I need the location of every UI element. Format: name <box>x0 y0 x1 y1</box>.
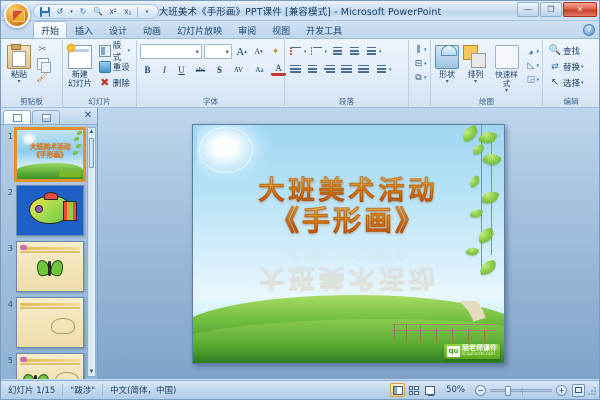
close-button[interactable]: ✕ <box>563 2 597 17</box>
watermark-badge: qu 屈老师课件 kj.qulaoshi.com <box>444 344 500 359</box>
butterfly-outline-icon <box>51 318 75 334</box>
zoom-out-button[interactable]: − <box>475 385 486 396</box>
font-row-2: B I U abc S AV Aa A <box>140 61 286 78</box>
slide-thumbnail-pane: ✕ 1 大班美术活动 《手形画》 <box>1 108 98 379</box>
fish-icon <box>29 196 69 224</box>
font-row-1: ▾ ▾ A▴ A▾ ✦ <box>140 43 283 60</box>
mini-watermark <box>59 171 81 177</box>
slide-thumbnail-3[interactable] <box>16 241 84 292</box>
zoom-slider[interactable] <box>490 389 552 392</box>
shape-fill-row: ◕ ▾ <box>525 45 540 58</box>
font-group-label: 字体 <box>140 96 281 107</box>
slide-title-block[interactable]: 大班美术活动 《手形画》 大班美术活动 《手形画》 <box>193 177 504 292</box>
leaf-icon <box>473 144 485 154</box>
fit-to-window-button[interactable] <box>572 384 585 397</box>
justify-button[interactable] <box>339 62 354 77</box>
align-center-icon <box>307 65 318 74</box>
increase-indent-icon <box>348 47 359 56</box>
tab-slides-thumbnails[interactable] <box>3 110 31 124</box>
watermark-url: kj.qulaoshi.com <box>462 351 497 357</box>
leaf-icon <box>482 149 503 169</box>
slide-thumbnail-4[interactable] <box>16 297 84 348</box>
shape-effects-row: ◲ ▾ <box>525 73 540 86</box>
text-direction-row: ⫼ ▾ <box>412 43 427 56</box>
distributed-icon <box>358 65 369 74</box>
decrease-indent-icon <box>331 47 342 56</box>
layout-icon <box>99 45 111 57</box>
watermark-text: 屈老师课件 kj.qulaoshi.com <box>462 345 497 357</box>
slides-tab-icon <box>13 114 22 122</box>
grow-font-button[interactable]: A▴ <box>234 44 249 59</box>
scrollbar-thumb[interactable] <box>89 138 94 168</box>
text-direction-caret-icon[interactable]: ▾ <box>424 47 427 53</box>
zoom-tick <box>522 388 523 395</box>
help-icon[interactable]: ? <box>583 24 595 36</box>
increase-indent-button[interactable] <box>346 44 361 59</box>
cursor-icon: ↖ <box>549 77 561 89</box>
close-pane-icon[interactable]: ✕ <box>82 110 94 122</box>
list-item[interactable]: 5 <box>4 353 86 379</box>
tab-animations[interactable]: 动画 <box>135 21 169 38</box>
view-normal-button[interactable] <box>390 383 405 397</box>
slide-title-line1: 大班美术活动 <box>193 177 504 206</box>
clipboard-small-buttons: ✂ 🖌 <box>36 43 49 84</box>
smartart-row: ⧉ ▾ <box>412 71 427 84</box>
quick-styles-label: 快速样式 <box>492 70 522 88</box>
fit-window-icon <box>575 387 582 393</box>
delete-icon: ✖ <box>99 77 111 89</box>
bullets-caret-icon[interactable]: ▾ <box>304 49 307 55</box>
shape-effects-caret-icon[interactable]: ▾ <box>537 77 540 83</box>
distributed-button[interactable] <box>356 62 371 77</box>
ribbon: 粘贴 ▾ ✂ 🖌 剪贴板 新建 幻灯片 <box>1 39 599 108</box>
shapes-button[interactable]: 形状 ▾ <box>434 43 460 86</box>
replace-label: 替换 <box>563 61 580 73</box>
list-item[interactable]: 2 <box>4 185 86 236</box>
bullets-button[interactable] <box>288 44 303 59</box>
strikethrough-button[interactable]: abc <box>191 62 210 77</box>
reset-label: 重设 <box>113 61 130 73</box>
slide-number: 1 <box>4 129 13 141</box>
delete-label: 删除 <box>113 77 130 89</box>
mini-title: 大班美术活动 《手形画》 <box>17 143 83 159</box>
mini-title-line1: 大班美术活动 <box>17 143 83 151</box>
tab-review[interactable]: 审阅 <box>230 21 264 38</box>
zoom-control: − + <box>470 385 572 396</box>
underline-button[interactable]: U <box>174 62 189 77</box>
leaf-icon <box>460 124 479 141</box>
slide-title-line2: 《手形画》 <box>193 206 504 237</box>
mini-header-rule <box>20 307 80 309</box>
shapes-icon <box>435 45 459 69</box>
tab-slideshow[interactable]: 幻灯片放映 <box>169 21 230 38</box>
paragraph-extras-label <box>412 96 427 107</box>
mini-header-bar <box>20 247 80 250</box>
tab-insert[interactable]: 插入 <box>67 21 101 38</box>
justify-icon <box>341 65 352 74</box>
reset-icon <box>99 61 111 73</box>
align-right-icon <box>324 65 335 74</box>
arrange-button[interactable]: 排列 ▾ <box>462 43 488 86</box>
align-left-icon <box>290 65 301 74</box>
select-button[interactable]: ↖ 选择 ▾ <box>546 75 587 90</box>
columns-button[interactable] <box>373 62 388 77</box>
drawing-group-label: 绘图 <box>434 96 539 107</box>
shapes-caret-icon[interactable]: ▾ <box>446 79 449 84</box>
slide-sorter-icon <box>409 386 419 395</box>
new-slide-label-1: 新建 <box>72 70 88 79</box>
smartart-caret-icon[interactable]: ▾ <box>424 75 427 81</box>
scissors-icon: ✂ <box>37 44 49 56</box>
mini-header-rule <box>20 363 80 365</box>
window-controls: — ❐ ✕ <box>517 2 597 17</box>
align-center-button[interactable] <box>305 62 320 77</box>
align-right-button[interactable] <box>322 62 337 77</box>
columns-caret-icon[interactable]: ▾ <box>389 67 392 73</box>
editing-group-label: 编辑 <box>546 96 596 107</box>
pencil-icon <box>20 357 27 362</box>
character-spacing-button[interactable]: AV <box>229 62 248 77</box>
arrange-icon <box>463 45 487 69</box>
title-reflection: 大班美术活动 《手形画》 <box>193 231 504 291</box>
maximize-button[interactable]: ❐ <box>540 2 562 17</box>
butterfly-icon <box>23 374 49 379</box>
ribbon-group-clipboard: 粘贴 ▾ ✂ 🖌 剪贴板 <box>1 40 63 107</box>
mini-title-line2: 《手形画》 <box>17 151 83 159</box>
replace-button[interactable]: ⇄ 替换 ▾ <box>546 59 587 74</box>
paste-caret-icon[interactable]: ▾ <box>17 79 20 84</box>
find-icon: 🔍 <box>549 45 561 57</box>
line-spacing-button[interactable] <box>363 44 378 59</box>
line-spacing-icon <box>365 47 376 56</box>
slide-thumbnail-5[interactable] <box>16 353 84 379</box>
outline-tab-icon <box>42 114 51 122</box>
ribbon-group-paragraph: ▾ ▾ ▾ ▾ 段落 <box>285 40 409 107</box>
ribbon-group-font: ▾ ▾ A▴ A▾ ✦ B I U abc S AV Aa A 字体 <box>137 40 285 107</box>
butterfly-icon <box>37 260 63 278</box>
brush-icon: 🖌 <box>37 72 49 84</box>
font-size-input[interactable]: ▾ <box>204 44 232 59</box>
delete-slide-button[interactable]: ✖ 删除 <box>96 75 133 90</box>
fish-eye-icon <box>35 205 43 213</box>
numbered-list-icon <box>311 47 322 56</box>
list-item[interactable]: 3 <box>4 241 86 292</box>
scroll-up-icon[interactable]: ▲ <box>89 128 95 136</box>
align-left-button[interactable] <box>288 62 303 77</box>
new-slide-button[interactable]: 新建 幻灯片 <box>66 43 94 90</box>
replace-caret-icon[interactable]: ▾ <box>581 64 584 70</box>
decrease-indent-button[interactable] <box>329 44 344 59</box>
view-slideshow-button[interactable] <box>422 383 437 397</box>
font-color-button[interactable]: A <box>271 63 286 76</box>
thumbnail-pane-tabs: ✕ <box>1 108 97 125</box>
shape-fill-caret-icon[interactable]: ▾ <box>537 49 540 55</box>
normal-view-icon <box>393 386 403 395</box>
ribbon-group-drawing: 形状 ▾ 排列 ▾ 快速样式 ▾ ◕ ▾ <box>431 40 543 107</box>
clipboard-group-label: 剪贴板 <box>4 96 59 107</box>
slide-number: 2 <box>4 185 13 197</box>
numbering-caret-icon[interactable]: ▾ <box>325 49 328 55</box>
slide-stage: 大班美术活动 《手形画》 大班美术活动 《手形画》 <box>98 108 599 379</box>
slide-counter[interactable]: 幻灯片 1/15 <box>1 382 62 399</box>
align-text-caret-icon[interactable]: ▾ <box>424 61 427 67</box>
bold-button[interactable]: B <box>140 62 155 77</box>
slide-title-line1-reflection: 大班美术活动 <box>193 263 504 292</box>
shape-outline-caret-icon[interactable]: ▾ <box>537 63 540 69</box>
line-spacing-caret-icon[interactable]: ▾ <box>379 49 382 55</box>
arrange-caret-icon[interactable]: ▾ <box>474 79 477 84</box>
slide-number: 5 <box>4 353 13 365</box>
slide-number: 3 <box>4 241 13 253</box>
tab-home[interactable]: 开始 <box>33 21 67 38</box>
editing-buttons: 🔍 查找 ⇄ 替换 ▾ ↖ 选择 ▾ <box>546 43 587 90</box>
font-name-input[interactable]: ▾ <box>140 44 202 59</box>
new-slide-icon <box>68 45 92 69</box>
find-label: 查找 <box>563 45 580 57</box>
clear-formatting-icon[interactable]: ✦ <box>268 44 283 59</box>
find-button[interactable]: 🔍 查找 <box>546 43 587 58</box>
ribbon-group-editing: 🔍 查找 ⇄ 替换 ▾ ↖ 选择 ▾ 编辑 <box>543 40 599 107</box>
italic-button[interactable]: I <box>157 62 172 77</box>
slide-thumbnail-1[interactable]: 大班美术活动 《手形画》 <box>16 129 84 180</box>
paragraph-row-1: ▾ ▾ ▾ <box>288 43 382 60</box>
columns-icon <box>375 65 386 74</box>
new-slide-label-2: 幻灯片 <box>68 79 92 88</box>
list-item[interactable]: 1 大班美术活动 《手形画》 <box>4 129 86 180</box>
zoom-slider-handle[interactable] <box>505 386 511 396</box>
paste-icon <box>7 45 31 69</box>
book-logo-icon: qu <box>447 346 460 357</box>
slides-group-label: 幻灯片 <box>66 96 133 107</box>
layout-button[interactable]: 版式 ▾ <box>96 43 133 58</box>
select-label: 选择 <box>563 77 580 89</box>
mini-header-bar <box>20 303 80 306</box>
shape-format-buttons: ◕ ▾ ◺ ▾ ◲ ▾ <box>525 43 540 86</box>
slides-small-buttons: 版式 ▾ 重设 ✖ 删除 <box>96 43 133 90</box>
list-item[interactable]: 4 <box>4 297 86 348</box>
tab-view[interactable]: 视图 <box>264 21 298 38</box>
thumbnail-list: 1 大班美术活动 《手形画》 <box>1 125 97 379</box>
view-slide-sorter-button[interactable] <box>406 383 421 397</box>
pencil-icon <box>20 245 27 250</box>
layout-caret-icon[interactable]: ▾ <box>127 48 130 54</box>
mini-header-rule <box>20 251 80 253</box>
title-bar: ↺ ▾ ↻ 🔍 x² x₂ ▾ 大班美术《手形画》PPT课件 [兼容模式] - … <box>1 1 599 21</box>
fence-graphic <box>392 321 496 341</box>
language-indicator[interactable]: 中文(简体，中国) <box>103 382 183 399</box>
current-slide[interactable]: 大班美术活动 《手形画》 大班美术活动 《手形画》 <box>192 124 505 364</box>
numbering-button[interactable] <box>309 44 324 59</box>
minimize-button[interactable]: — <box>517 2 539 17</box>
powerpoint-window: ↺ ▾ ↻ 🔍 x² x₂ ▾ 大班美术《手形画》PPT课件 [兼容模式] - … <box>0 0 600 400</box>
ribbon-tab-bar: 开始 插入 设计 动画 幻灯片放映 审阅 视图 开发工具 ? <box>1 21 599 39</box>
status-bar: 幻灯片 1/15 "跋涉" 中文(简体，中国) 50% − + <box>1 380 599 399</box>
copy-button[interactable] <box>36 57 49 70</box>
select-caret-icon[interactable]: ▾ <box>581 80 584 86</box>
quick-styles-caret-icon[interactable]: ▾ <box>505 88 508 93</box>
fish-fin-icon <box>44 192 58 200</box>
slide-thumbnail-2[interactable] <box>16 185 84 236</box>
align-text-row: ⊟ ▾ <box>412 57 427 70</box>
slide-number: 4 <box>4 297 13 309</box>
bullet-list-icon <box>290 47 301 56</box>
mini-header-bar <box>20 359 80 362</box>
quick-styles-button[interactable]: 快速样式 ▾ <box>491 43 523 95</box>
text-shadow-button[interactable]: S <box>212 62 227 77</box>
paragraph-group-label: 段落 <box>288 96 405 107</box>
change-case-button[interactable]: Aa <box>250 62 269 77</box>
format-painter-button[interactable]: 🖌 <box>36 71 49 84</box>
ribbon-group-slides: 新建 幻灯片 版式 ▾ 重设 ✖ 删除 <box>63 40 137 107</box>
shape-outline-row: ◺ ▾ <box>525 59 540 72</box>
replace-icon: ⇄ <box>549 61 561 73</box>
slideshow-icon <box>425 386 435 395</box>
window-title: 大班美术《手形画》PPT课件 [兼容模式] - Microsoft PowerP… <box>1 4 599 18</box>
reset-button[interactable]: 重设 <box>96 59 133 74</box>
tab-design[interactable]: 设计 <box>101 21 135 38</box>
shrink-font-button[interactable]: A▾ <box>251 44 266 59</box>
thumbnail-scrollbar[interactable]: ▲ ▼ <box>87 127 96 377</box>
ribbon-group-paragraph-extras: ⫼ ▾ ⊟ ▾ ⧉ ▾ <box>409 40 431 107</box>
sun-ring-icon <box>199 127 253 173</box>
tab-developer[interactable]: 开发工具 <box>298 21 350 38</box>
view-buttons <box>386 383 441 397</box>
office-button[interactable] <box>4 2 30 28</box>
paragraph-row-2: ▾ <box>288 61 392 78</box>
cut-button[interactable]: ✂ <box>36 43 49 56</box>
paste-button[interactable]: 粘贴 ▾ <box>4 43 34 86</box>
workspace: ✕ 1 大班美术活动 《手形画》 <box>1 108 599 379</box>
zoom-in-button[interactable]: + <box>556 385 567 396</box>
resize-grip[interactable] <box>585 384 597 396</box>
theme-name[interactable]: "跋涉" <box>63 382 102 399</box>
scroll-down-icon[interactable]: ▼ <box>89 368 95 376</box>
quick-styles-icon <box>495 45 519 69</box>
copy-icon <box>37 58 49 70</box>
tab-outline[interactable] <box>32 110 60 124</box>
zoom-level[interactable]: 50% <box>441 385 470 395</box>
